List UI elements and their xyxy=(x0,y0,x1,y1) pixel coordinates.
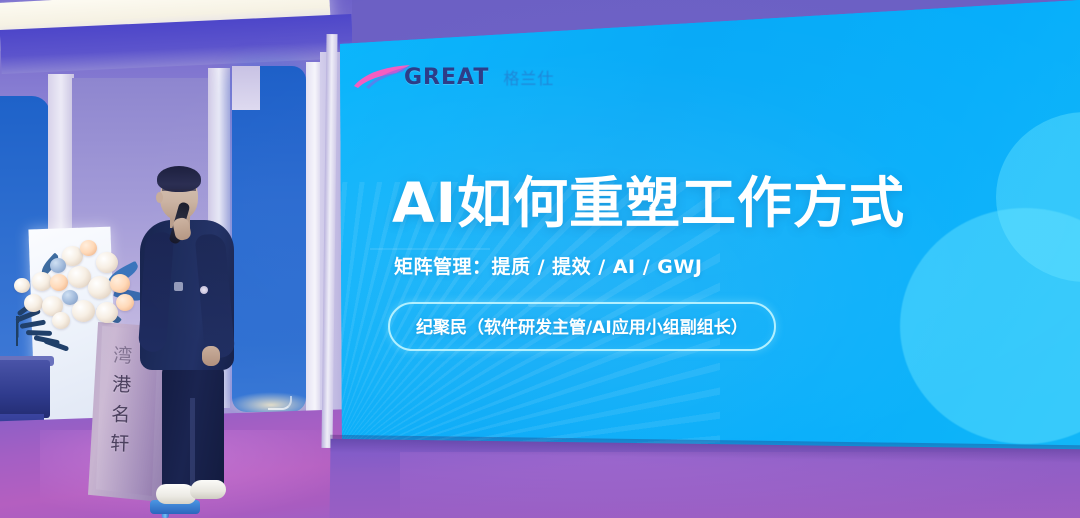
wall-panel-notch xyxy=(232,66,260,110)
presentation-photo: GREAT 格兰仕 AI如何重塑工作方式 矩阵管理：提质 / 提效 / AI /… xyxy=(0,0,1080,518)
podium-char-2: 轩 xyxy=(110,430,130,460)
speaker-person xyxy=(138,158,248,510)
glasses-icon xyxy=(162,189,196,199)
brand-logo: GREAT 格兰仕 xyxy=(352,64,554,90)
slide-title: AI如何重塑工作方式 xyxy=(392,176,905,231)
speaker-ear xyxy=(156,192,163,203)
stage-carpet-right-highlight xyxy=(400,452,1060,518)
logo-wordmark: GREAT xyxy=(404,65,489,90)
swoosh-icon xyxy=(352,64,412,90)
speaker-badge xyxy=(200,286,208,294)
speaker-hand-right xyxy=(202,346,220,366)
screen-seam-line xyxy=(370,248,490,250)
speaker-leg-seam xyxy=(190,398,195,494)
led-presentation-screen: GREAT 格兰仕 AI如何重塑工作方式 矩阵管理：提质 / 提效 / AI /… xyxy=(330,0,1080,472)
speaker-chest-logo xyxy=(174,282,183,291)
logo-chinese-mark: 格兰仕 xyxy=(503,65,554,89)
speaker-shoe-right xyxy=(190,480,226,499)
equipment-case xyxy=(0,360,50,418)
podium-vertical-text: 湾 港 名 轩 xyxy=(102,351,140,460)
speaker-name-pill: 纪聚民（软件研发主管/AI应用小组副组长） xyxy=(388,302,776,351)
podium-char-1: 名 xyxy=(111,401,131,431)
podium-char-0: 港 xyxy=(112,371,132,401)
slide-subtitle: 矩阵管理：提质 / 提效 / AI / GWJ xyxy=(394,252,702,279)
